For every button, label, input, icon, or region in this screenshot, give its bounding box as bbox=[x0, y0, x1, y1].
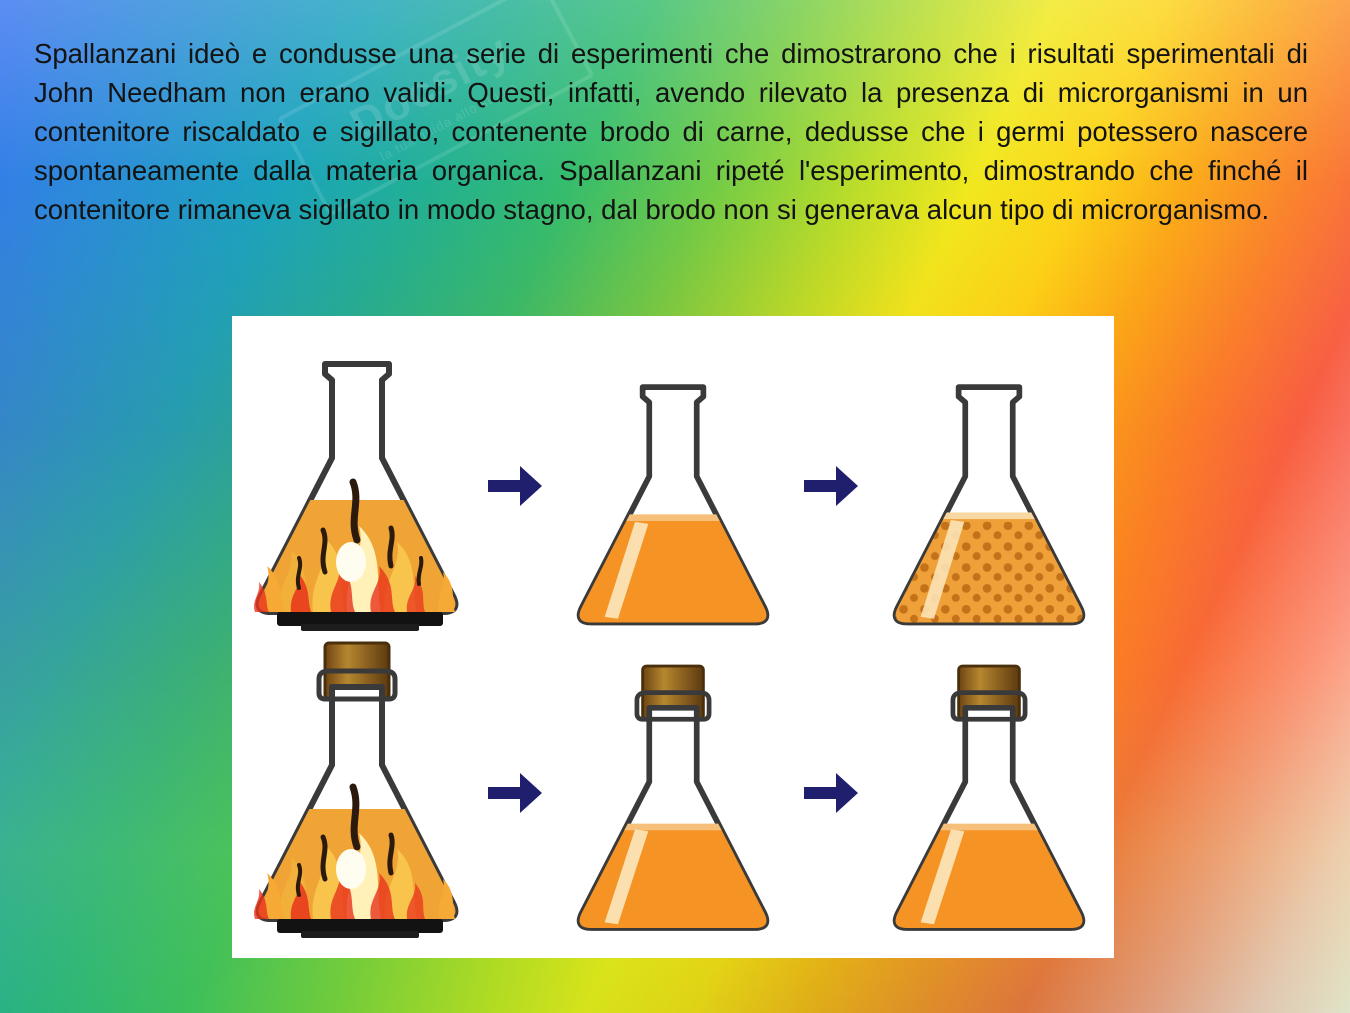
flask-sterile-sealed-icon bbox=[877, 653, 1101, 943]
flask-sealed-sterile-1 bbox=[548, 643, 798, 943]
burner-base bbox=[277, 919, 443, 933]
flask-heating-sealed-icon bbox=[239, 637, 475, 943]
flask-sterile-sealed-icon bbox=[561, 653, 785, 943]
arrow-bottom-2 bbox=[798, 643, 864, 943]
flask-heating-open-icon bbox=[239, 350, 475, 636]
arrow-right-icon bbox=[802, 460, 860, 512]
arrow-bottom-1 bbox=[482, 643, 548, 943]
flask-open-heating bbox=[232, 336, 482, 636]
open-flask-sequence bbox=[232, 336, 1114, 636]
burner-base bbox=[277, 612, 443, 626]
sealed-flask-sequence bbox=[232, 638, 1114, 948]
arrow-top-2 bbox=[798, 336, 864, 636]
arrow-right-icon bbox=[486, 767, 544, 819]
slide-canvas: Docsity la tua guida allo studio Spallan… bbox=[0, 0, 1350, 1013]
arrow-right-icon bbox=[802, 767, 860, 819]
paragraph-spallanzani: Spallanzani ideò e condusse una serie di… bbox=[34, 34, 1308, 229]
flask-sterile-open-icon bbox=[561, 368, 785, 636]
flask-open-sterile bbox=[548, 336, 798, 636]
flask-contaminated-open-icon bbox=[877, 368, 1101, 636]
flask-sealed-sterile-2 bbox=[864, 643, 1114, 943]
slide-body-text: Spallanzani ideò e condusse una serie di… bbox=[34, 34, 1308, 229]
arrow-top-1 bbox=[482, 336, 548, 636]
experiment-figure-panel bbox=[232, 316, 1114, 958]
flask-sealed-heating bbox=[232, 643, 482, 943]
flask-open-contaminated bbox=[864, 336, 1114, 636]
arrow-right-icon bbox=[486, 460, 544, 512]
